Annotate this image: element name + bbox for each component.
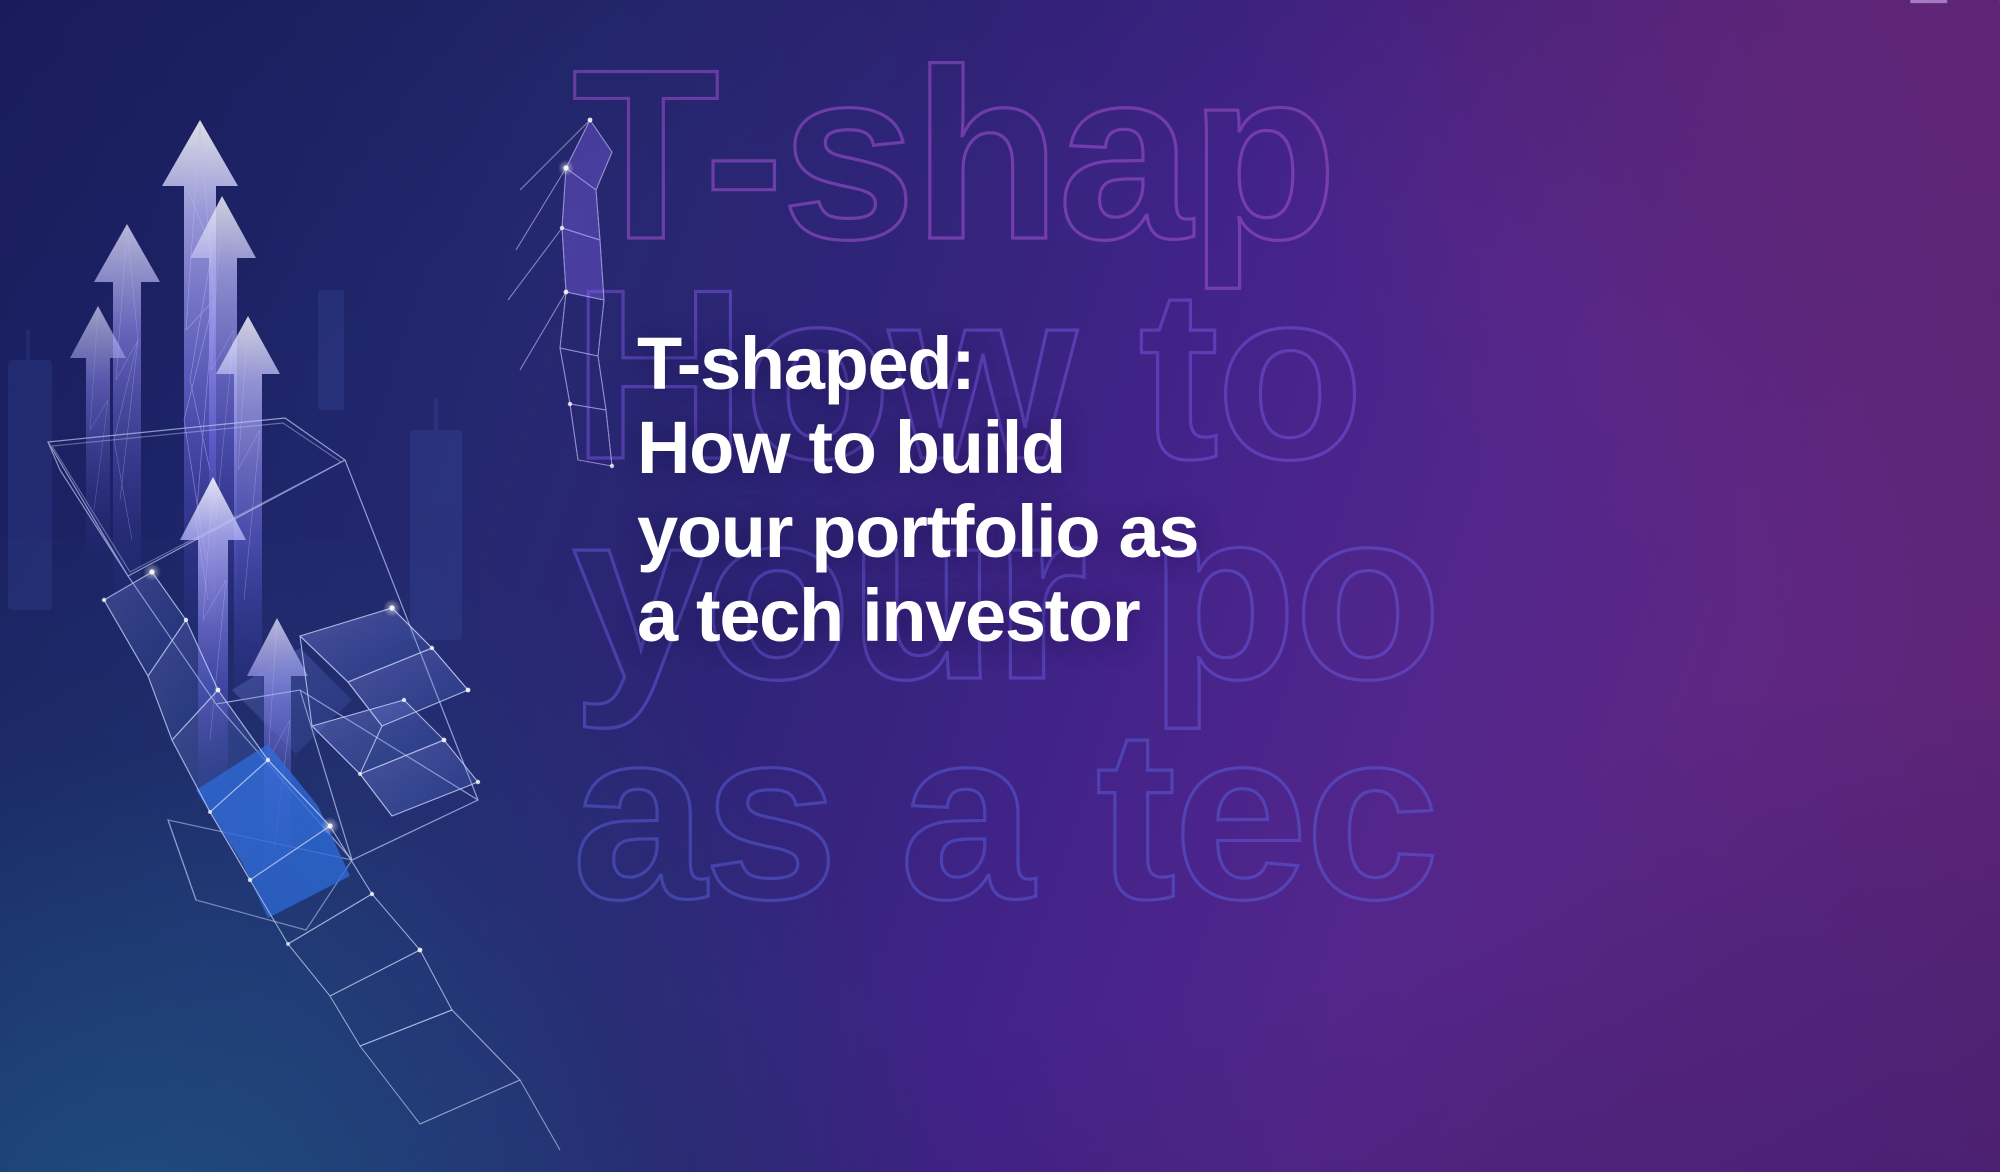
headline-line-4: a tech investor: [637, 574, 1397, 658]
headline-line-1: T-shaped:: [637, 322, 1397, 406]
headline-line-2: How to build: [637, 406, 1397, 490]
background-purple-glow-bottom: [1320, 703, 2000, 1172]
low-poly-hand-illustration: [0, 0, 620, 1172]
article-hero-banner: T-shap How to your po as a tec T-shaped:: [0, 0, 2000, 1172]
headline-line-3: your portfolio as: [637, 490, 1397, 574]
hero-headline: T-shaped: How to build your portfolio as…: [637, 322, 1397, 658]
wireframe-hand: [104, 572, 560, 1150]
particle-dots: [102, 118, 614, 953]
